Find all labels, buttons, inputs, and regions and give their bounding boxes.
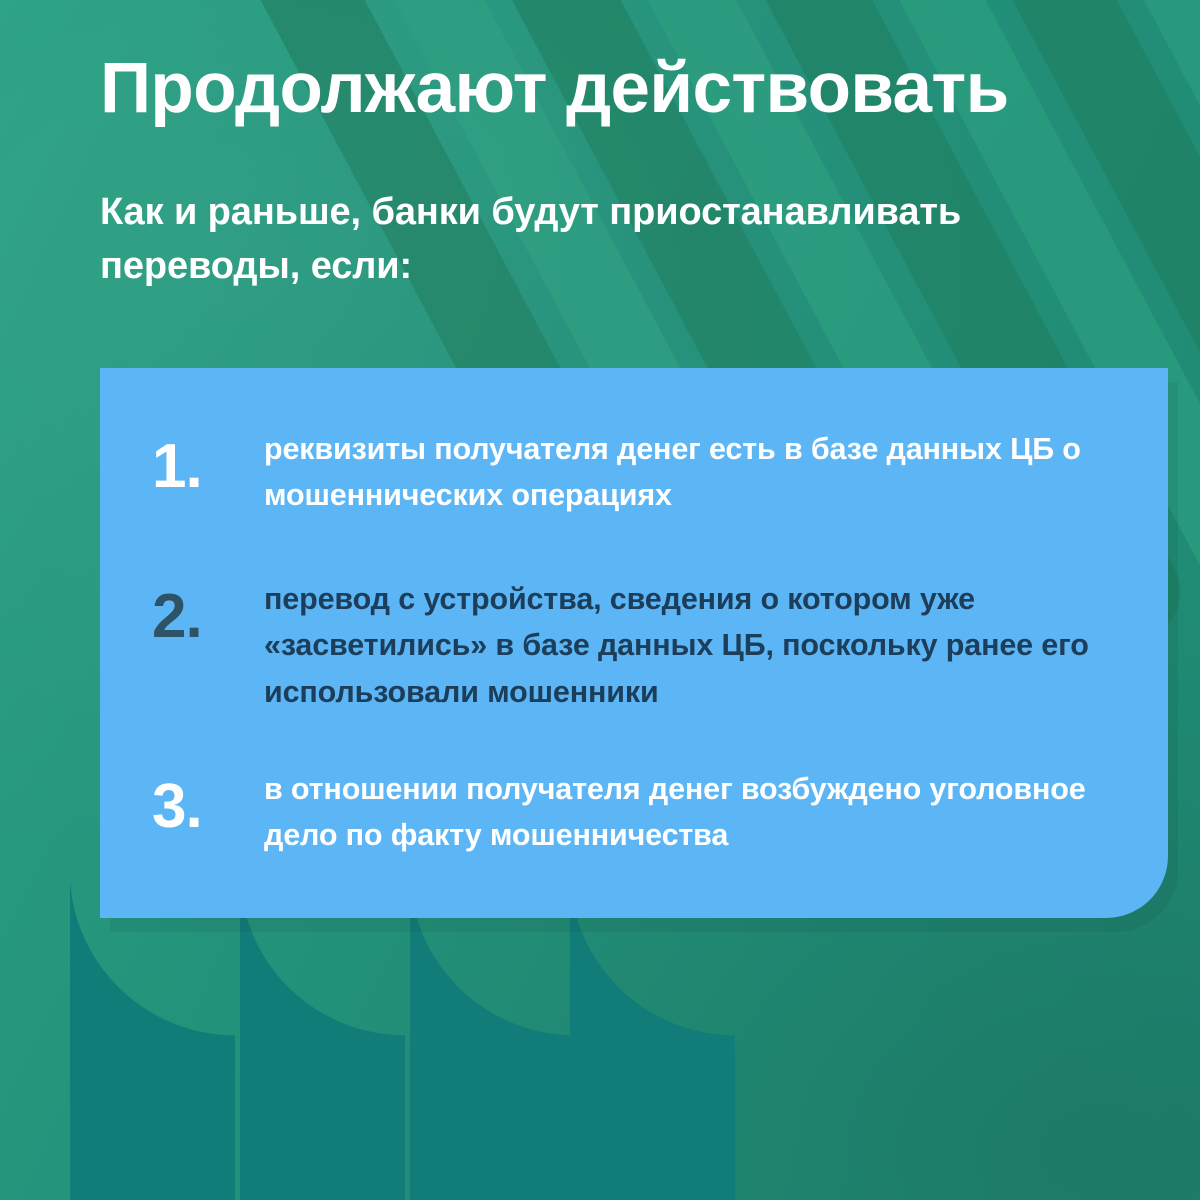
conditions-card: 1. реквизиты получателя денег есть в баз… bbox=[100, 368, 1168, 918]
list-item-text: в отношении получателя денег возбуждено … bbox=[264, 766, 1152, 859]
decorative-column-2 bbox=[240, 870, 405, 1200]
conditions-list: 1. реквизиты получателя денег есть в баз… bbox=[100, 368, 1168, 918]
decorative-column-1 bbox=[70, 870, 235, 1200]
column-decoration-group bbox=[0, 870, 1200, 1200]
list-item: 2. перевод с устройства, сведения о кото… bbox=[152, 576, 1152, 715]
page-subtitle: Как и раньше, банки будут приостанавлива… bbox=[100, 186, 980, 294]
list-item-number: 1. bbox=[152, 426, 264, 498]
page-title: Продолжают действовать bbox=[100, 52, 1160, 126]
list-item-number: 3. bbox=[152, 766, 264, 838]
list-item: 3. в отношении получателя денег возбужде… bbox=[152, 766, 1152, 859]
list-item-text: перевод с устройства, сведения о котором… bbox=[264, 576, 1152, 715]
list-item-text: реквизиты получателя денег есть в базе д… bbox=[264, 426, 1152, 519]
decorative-column-3 bbox=[410, 870, 575, 1200]
decorative-column-4 bbox=[570, 870, 735, 1200]
infographic-poster: Продолжают действовать Как и раньше, бан… bbox=[0, 0, 1200, 1200]
list-item-number: 2. bbox=[152, 576, 264, 648]
list-item: 1. реквизиты получателя денег есть в баз… bbox=[152, 426, 1152, 519]
